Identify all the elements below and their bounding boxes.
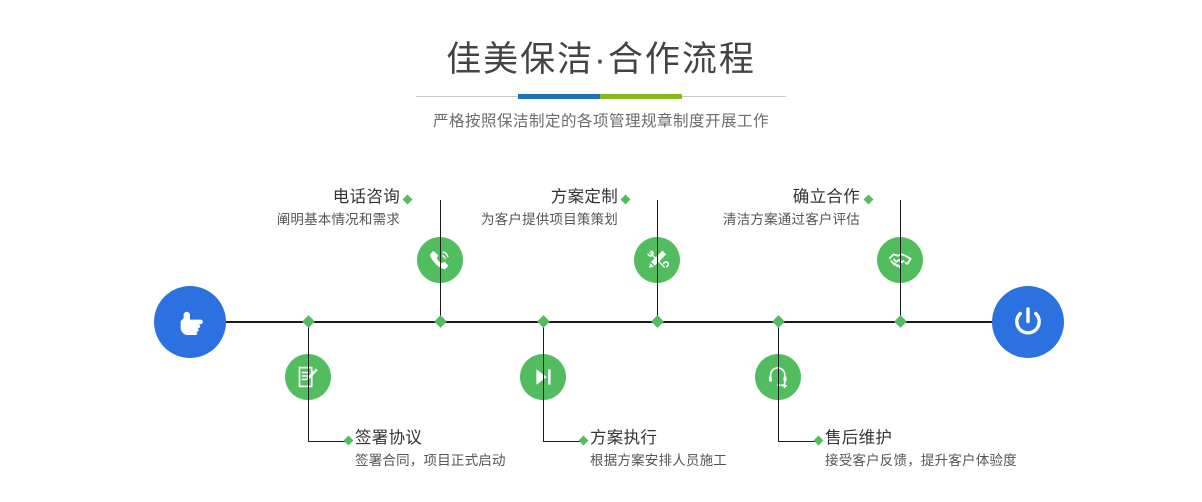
flow-start-node	[154, 286, 226, 358]
step-elbow-6	[778, 441, 818, 442]
axis-diamond-6	[772, 315, 785, 328]
power-icon	[1007, 301, 1049, 343]
step-desc-3: 为客户提供项目策策划	[336, 209, 618, 230]
page-subtitle: 严格按照保洁制定的各项管理规章制度开展工作	[0, 100, 1202, 133]
axis-diamond-2	[302, 315, 315, 328]
step-stem-5	[900, 200, 901, 322]
step-stem-6	[778, 321, 779, 441]
step-title-5: 确立合作	[578, 186, 860, 209]
timeline-axis	[226, 321, 1004, 323]
flow-infographic: 佳美保洁·合作流程 严格按照保洁制定的各项管理规章制度开展工作	[0, 0, 1202, 502]
title-divider	[416, 94, 786, 100]
axis-diamond-1	[434, 315, 447, 328]
step-elbow-2	[308, 441, 348, 442]
axis-diamond-5	[894, 315, 907, 328]
axis-diamond-3	[651, 315, 664, 328]
step-desc-5: 清洁方案通过客户评估	[578, 209, 860, 230]
page-title: 佳美保洁·合作流程	[0, 0, 1202, 82]
step-label-5: 确立合作 清洁方案通过客户评估	[578, 186, 860, 230]
step-title-6: 售后维护	[825, 427, 1125, 450]
header: 佳美保洁·合作流程 严格按照保洁制定的各项管理规章制度开展工作	[0, 0, 1202, 133]
step-label-6: 售后维护 接受客户反馈，提升客户体验度	[825, 427, 1125, 471]
label-diamond-2	[344, 436, 354, 446]
step-title-3: 方案定制	[336, 186, 618, 209]
flow-end-node	[992, 286, 1064, 358]
step-elbow-4	[543, 441, 583, 442]
divider-segment-green	[600, 94, 682, 99]
step-desc-6: 接受客户反馈，提升客户体验度	[825, 450, 1125, 471]
step-stem-2	[308, 321, 309, 441]
step-stem-4	[543, 321, 544, 441]
step-label-3: 方案定制 为客户提供项目策策划	[336, 186, 618, 230]
axis-diamond-4	[537, 315, 550, 328]
label-diamond-5	[864, 195, 874, 205]
divider-segment-blue	[518, 94, 600, 99]
pointing-hand-icon	[170, 302, 210, 342]
